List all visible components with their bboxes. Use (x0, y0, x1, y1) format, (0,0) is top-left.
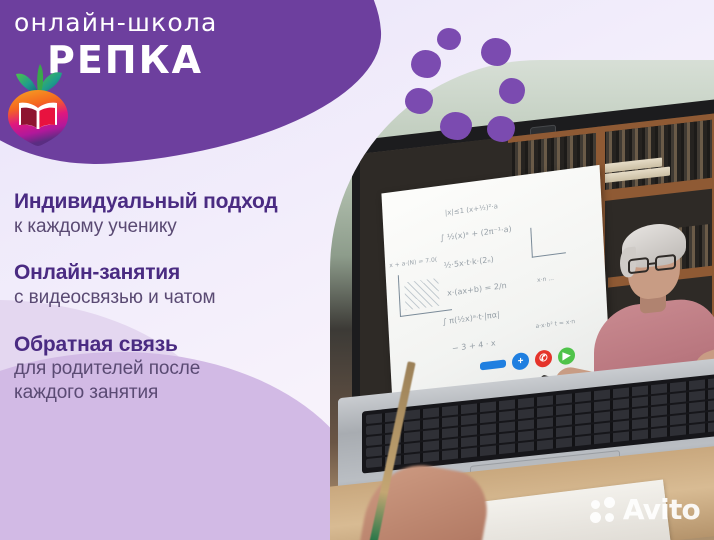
feature-item: Онлайн-занятия с видеосвязью и чатом (14, 261, 404, 309)
decor-dot (481, 38, 511, 66)
feature-subtitle: для родителей после каждого занятия (14, 357, 404, 404)
end-call-icon[interactable]: ✆ (535, 349, 552, 368)
decor-dot (411, 50, 441, 78)
formula-text: x·n ... (537, 275, 554, 284)
add-participant-icon[interactable]: + (512, 352, 529, 371)
brand-kicker: онлайн-школа (14, 8, 218, 37)
decor-dot (405, 88, 433, 114)
formula-text: ½·5x·t·k·(2ₙ) (443, 255, 494, 271)
feature-item: Индивидуальный подход к каждому ученику (14, 190, 404, 238)
advert-banner: |x|≤1 (x+½)²·a ∫ ½(x)ᵃ + (2π⁻¹·a) ½·5x·t… (0, 0, 714, 540)
formula-text: a·x·b² t = x·n (535, 318, 575, 330)
dot-cluster-decoration (405, 22, 545, 142)
decor-dot (440, 112, 472, 140)
turnip-with-book-icon (2, 62, 74, 146)
formula-text: |x|≤1 (x+½)²·a (445, 202, 498, 217)
avito-label: Avito (623, 493, 700, 526)
formula-text: x·(ax+b) = 2/n (447, 281, 507, 298)
feature-title: Обратная связь (14, 333, 404, 358)
camera-icon[interactable]: ▶ (558, 347, 575, 366)
formula-text: ∫ ½(x)ᵃ + (2π⁻¹·a) (440, 224, 512, 242)
graph-hatching (404, 278, 439, 310)
feature-title: Онлайн-занятия (14, 261, 404, 286)
decor-dot (487, 116, 515, 142)
decor-dot (437, 28, 461, 50)
feature-list: Индивидуальный подход к каждому ученику … (14, 190, 404, 427)
avito-watermark: Avito (590, 493, 700, 526)
feature-subtitle: к каждому ученику (14, 215, 404, 239)
feature-subtitle: с видеосвязью и чатом (14, 286, 404, 310)
formula-text: − 3 + 4 · x (452, 338, 496, 353)
formula-text: ∫ π(½x)ᵃ·t·|πα| (442, 310, 500, 326)
brand-lockup: онлайн-школа РЕПКА (0, 0, 330, 150)
feature-title: Индивидуальный подход (14, 190, 404, 215)
feature-item: Обратная связь для родителей после каждо… (14, 333, 404, 405)
decor-dot (499, 78, 525, 104)
avito-dots-icon (590, 497, 616, 523)
graph-diagram (530, 223, 566, 257)
call-tab-indicator (480, 359, 506, 370)
